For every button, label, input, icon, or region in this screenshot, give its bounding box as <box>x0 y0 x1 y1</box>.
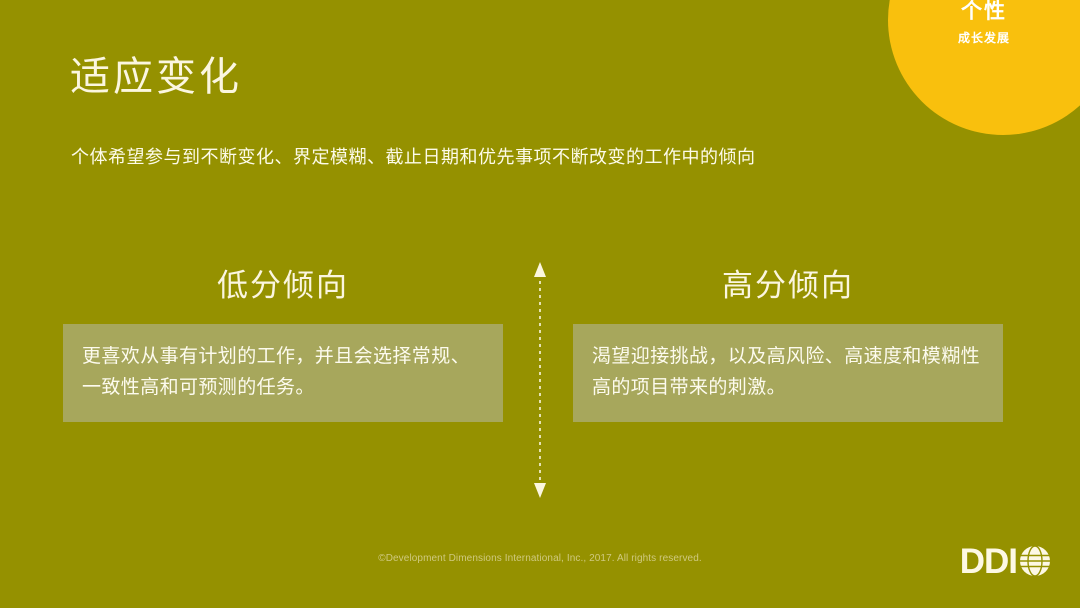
corner-category-badge: 个性 成长发展 <box>888 0 1080 135</box>
ddi-logo: DDI <box>960 541 1052 581</box>
column-low-heading: 低分倾向 <box>63 258 503 304</box>
column-low-score: 低分倾向 更喜欢从事有计划的工作，并且会选择常规、一致性高和可预测的任务。 <box>63 258 503 422</box>
column-low-description: 更喜欢从事有计划的工作，并且会选择常规、一致性高和可预测的任务。 <box>63 324 503 422</box>
scale-axis <box>518 260 562 500</box>
corner-badge-subtitle: 成长发展 <box>888 32 1080 45</box>
column-high-heading: 高分倾向 <box>573 258 1003 304</box>
slide-canvas: 个性 成长发展 适应变化 个体希望参与到不断变化、界定模糊、截止日期和优先事项不… <box>0 0 1080 608</box>
ddi-wordmark: DDI <box>960 544 1017 579</box>
column-high-score: 高分倾向 渴望迎接挑战，以及高风险、高速度和模糊性高的项目带来的刺激。 <box>573 258 1003 422</box>
column-high-description: 渴望迎接挑战，以及高风险、高速度和模糊性高的项目带来的刺激。 <box>573 324 1003 422</box>
globe-icon <box>1018 544 1052 578</box>
page-title: 适应变化 <box>70 54 242 100</box>
corner-badge-text-group: 个性 成长发展 <box>888 0 1080 45</box>
corner-badge-title: 个性 <box>888 0 1080 23</box>
copyright-notice: ©Development Dimensions International, I… <box>0 553 1080 565</box>
page-subtitle: 个体希望参与到不断变化、界定模糊、截止日期和优先事项不断改变的工作中的倾向 <box>71 146 756 169</box>
dashed-double-arrow-icon <box>518 260 562 500</box>
